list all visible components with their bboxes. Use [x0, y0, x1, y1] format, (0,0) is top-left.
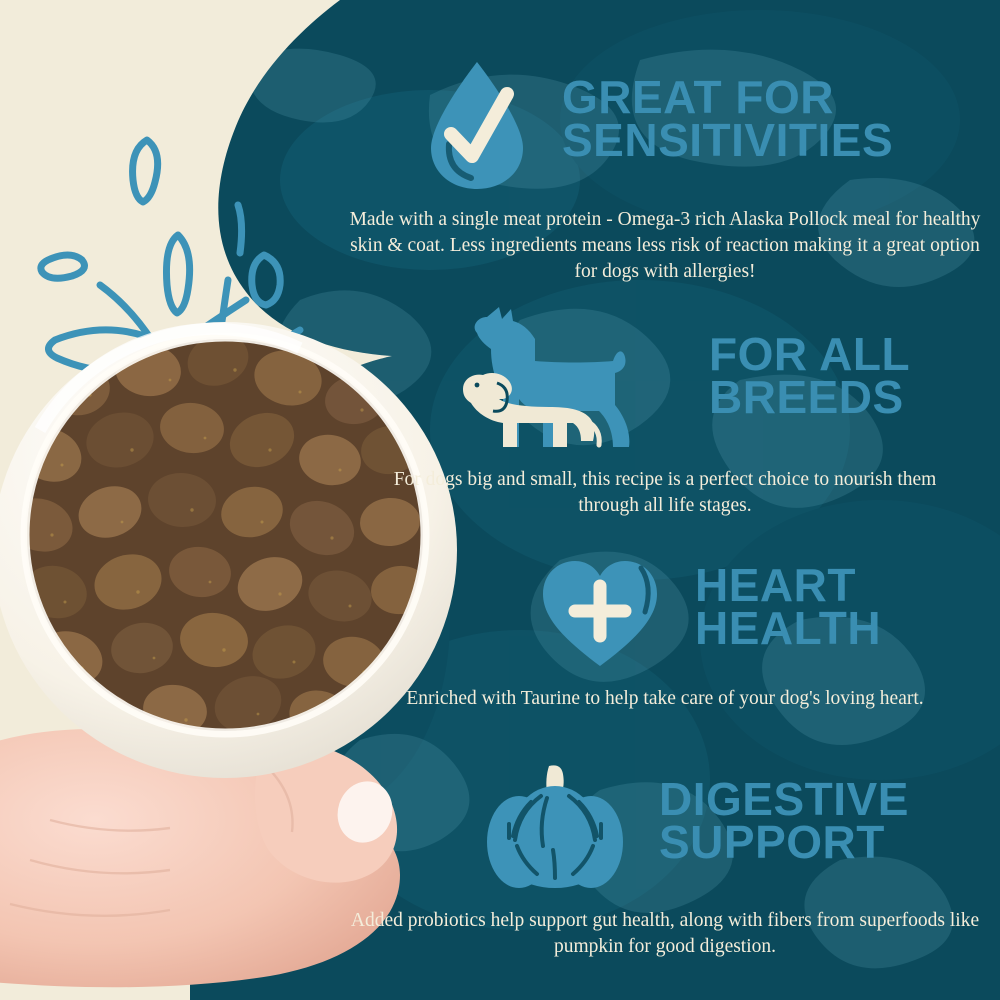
- title-line-2: SENSITIVITIES: [562, 114, 893, 166]
- feature-header: GREAT FOR SENSITIVITIES: [330, 58, 1000, 193]
- two-dogs-icon: [455, 305, 665, 455]
- heart-plus-icon: [535, 552, 665, 672]
- title-line-2: HEALTH: [695, 602, 881, 654]
- feature-header: HEART HEALTH: [330, 552, 1000, 672]
- feature-description: For dogs big and small, this recipe is a…: [330, 467, 1000, 519]
- feature-breeds: FOR ALL BREEDS For dogs big and small, t…: [330, 305, 1000, 519]
- title-line-2: BREEDS: [709, 371, 904, 423]
- feature-header: DIGESTIVE SUPPORT: [330, 762, 1000, 892]
- feature-list: GREAT FOR SENSITIVITIES Made with a sing…: [330, 0, 1000, 1000]
- feature-sensitivities: GREAT FOR SENSITIVITIES Made with a sing…: [330, 58, 1000, 285]
- feature-description: Added probiotics help support gut health…: [330, 908, 1000, 960]
- feature-title: DIGESTIVE SUPPORT: [635, 762, 909, 864]
- feature-title: HEART HEALTH: [665, 552, 881, 650]
- pumpkin-icon: [475, 762, 635, 892]
- feature-header: FOR ALL BREEDS: [330, 305, 1000, 455]
- infographic-canvas: GREAT FOR SENSITIVITIES Made with a sing…: [0, 0, 1000, 1000]
- feature-heart: HEART HEALTH Enriched with Taurine to he…: [330, 552, 1000, 712]
- feature-description: Enriched with Taurine to help take care …: [330, 686, 1000, 712]
- feature-title: FOR ALL BREEDS: [665, 305, 910, 419]
- feature-description: Made with a single meat protein - Omega-…: [330, 207, 1000, 285]
- title-line-2: SUPPORT: [659, 816, 885, 868]
- feature-digestive: DIGESTIVE SUPPORT Added probiotics help …: [330, 762, 1000, 960]
- feature-title: GREAT FOR SENSITIVITIES: [530, 58, 893, 162]
- water-drop-check-icon: [425, 58, 530, 193]
